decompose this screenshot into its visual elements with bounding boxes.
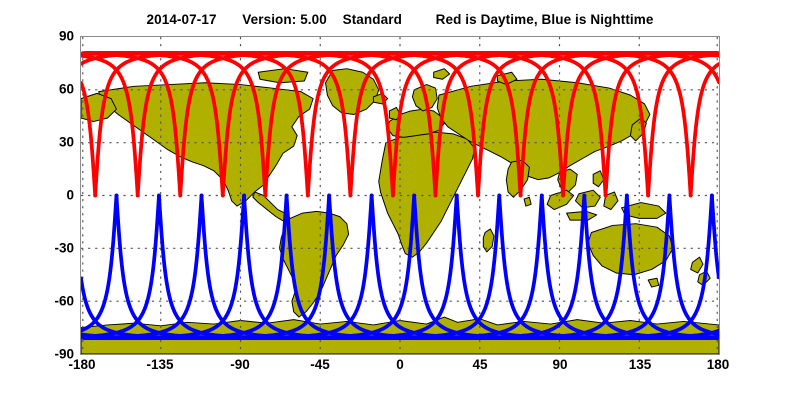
x-tick-45: 45 (472, 357, 487, 372)
map-canvas (81, 37, 719, 354)
y-tick-0: 0 (66, 188, 74, 203)
x-tick-m180-label: -180 (68, 357, 95, 372)
y-tick-90-label: 90 (59, 29, 74, 44)
y-tick-m60: -60 (54, 294, 74, 309)
map-svg (81, 37, 719, 354)
x-tick-0: 0 (396, 357, 404, 372)
y-tick-30-label: 30 (59, 135, 74, 150)
x-tick-m135: -135 (146, 357, 173, 372)
x-tick-180: 180 (707, 357, 730, 372)
y-tick-m60-label: -60 (54, 294, 74, 309)
y-tick-60-label: 60 (59, 82, 74, 97)
map-plot-area (80, 36, 720, 355)
y-tick-60: 60 (59, 82, 74, 97)
title-legend: Red is Daytime, Blue is Nighttime (436, 12, 654, 27)
y-tick-m30-label: -30 (54, 241, 74, 256)
figure-title: 2014-07-17 Version: 5.00 Standard Red is… (0, 12, 800, 27)
x-tick-135-label: 135 (629, 357, 652, 372)
title-mode: Standard (343, 12, 402, 27)
ground-track-map-figure: 2014-07-17 Version: 5.00 Standard Red is… (0, 0, 800, 400)
x-tick-m180: -180 (68, 357, 95, 372)
x-tick-45-label: 45 (472, 357, 487, 372)
y-tick-90: 90 (59, 29, 74, 44)
x-tick-m45-label: -45 (310, 357, 330, 372)
y-tick-30: 30 (59, 135, 74, 150)
x-tick-0-label: 0 (396, 357, 404, 372)
x-tick-m90: -90 (230, 357, 250, 372)
y-tick-0-label: 0 (66, 188, 74, 203)
x-tick-m135-label: -135 (146, 357, 173, 372)
x-tick-m45: -45 (310, 357, 330, 372)
x-tick-180-label: 180 (707, 357, 730, 372)
x-tick-90-label: 90 (552, 357, 567, 372)
x-tick-135: 135 (629, 357, 652, 372)
y-tick-m30: -30 (54, 241, 74, 256)
title-version: Version: 5.00 (242, 12, 327, 27)
x-tick-m90-label: -90 (230, 357, 250, 372)
land-sri-lanka (524, 197, 531, 206)
title-date: 2014-07-17 (147, 12, 217, 27)
x-tick-90: 90 (552, 357, 567, 372)
